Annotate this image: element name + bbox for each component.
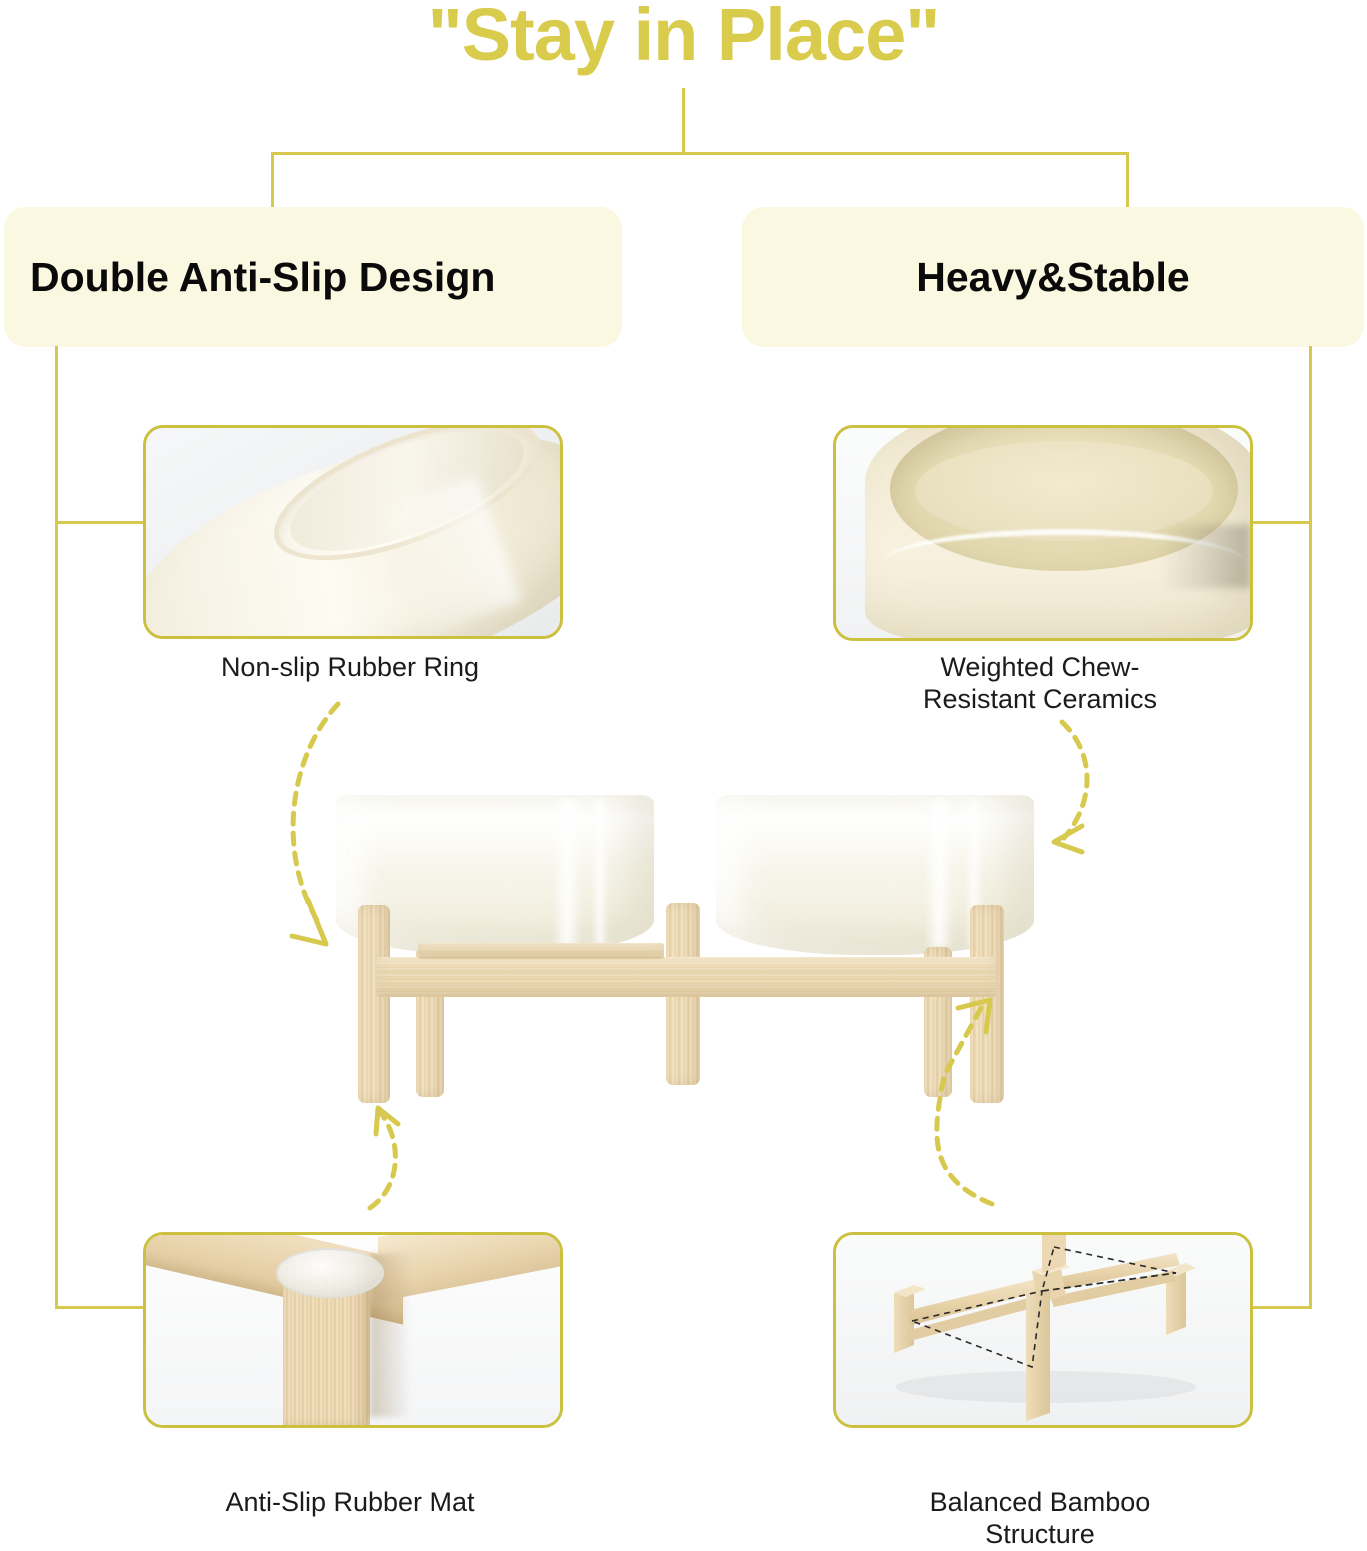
branch-left-bottom xyxy=(55,1306,147,1309)
header-label-right: Heavy&Stable xyxy=(916,257,1189,298)
header-label-left: Double Anti-Slip Design xyxy=(4,257,495,298)
stand-rail-upper xyxy=(418,943,664,959)
feature-caption-anti-slip-rubber-mat: Anti-Slip Rubber Mat xyxy=(120,1487,580,1519)
dashed-curved-arrow-up-right xyxy=(900,980,1080,1220)
spine-right xyxy=(1309,346,1312,1308)
dashed-curved-arrow-down-left xyxy=(990,700,1170,890)
branch-right-top xyxy=(1243,521,1312,524)
feature-caption-non-slip-rubber-ring: Non-slip Rubber Ring xyxy=(120,652,580,684)
dashed-curved-arrow-up xyxy=(340,1090,480,1240)
feature-image-anti-slip-rubber-mat xyxy=(143,1232,563,1428)
dashed-curved-arrow-down-right xyxy=(250,700,450,970)
branch-right-bottom xyxy=(1243,1306,1312,1309)
feature-image-non-slip-rubber-ring xyxy=(143,425,563,639)
connector-top-right-drop xyxy=(1126,152,1129,210)
spine-left xyxy=(55,346,58,1308)
feature-image-balanced-bamboo-structure xyxy=(833,1232,1253,1428)
connector-top-left-drop xyxy=(271,152,274,210)
header-box-right: Heavy&Stable xyxy=(742,207,1364,347)
connector-top-bar xyxy=(271,152,1129,155)
connector-title-stem xyxy=(682,88,685,154)
feature-image-weighted-chew-resistant-ceramics xyxy=(833,425,1253,641)
header-box-left: Double Anti-Slip Design xyxy=(4,207,622,347)
page-title: "Stay in Place" xyxy=(0,0,1367,74)
branch-left-top xyxy=(55,521,147,524)
feature-caption-balanced-bamboo-structure: Balanced Bamboo Structure xyxy=(810,1487,1270,1551)
